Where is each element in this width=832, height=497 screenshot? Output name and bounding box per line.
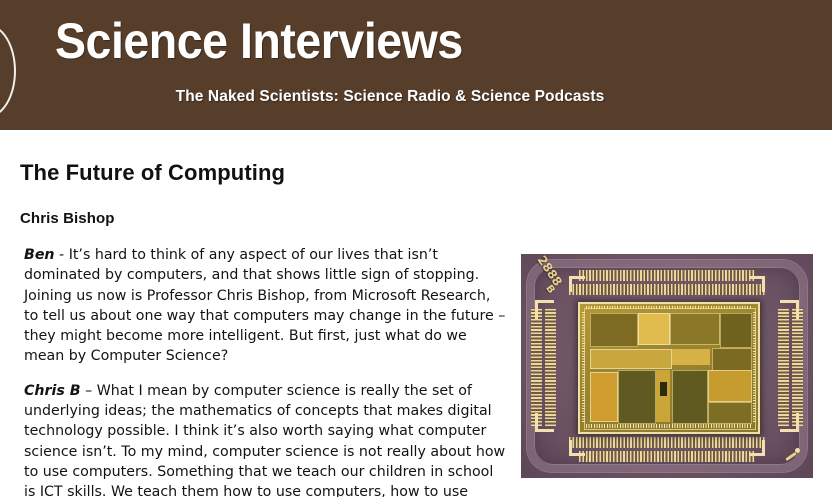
paragraph-text: It’s hard to think of any aspect of our … (24, 247, 505, 364)
bond-pad-row-left-outer (531, 308, 542, 426)
site-tagline: The Naked Scientists: Science Radio & Sc… (12, 88, 769, 106)
alignment-bracket-inner-bottom-left (569, 440, 585, 456)
bond-pad-row-bottom-inner (569, 437, 765, 448)
bond-pad-row-right-inner (778, 308, 789, 426)
page-root: Science Interviews The Naked Scientists:… (0, 0, 832, 497)
article-byline: Chris Bishop (20, 210, 115, 227)
alignment-bracket-top-right (780, 300, 799, 319)
alignment-bracket-inner-top-left (569, 276, 585, 292)
bond-pad-row-top-inner (569, 284, 765, 295)
alignment-bracket-bottom-left (535, 413, 554, 432)
alignment-bracket-inner-bottom-right (749, 440, 765, 456)
speaker-name: Chris B (24, 383, 81, 399)
bond-pad-row-left-inner (545, 308, 556, 426)
site-masthead: Science Interviews The Naked Scientists:… (0, 0, 832, 130)
alignment-bracket-inner-top-right (749, 276, 765, 292)
paragraph-text: What I mean by computer science is reall… (24, 383, 505, 497)
speaker-name: Ben (24, 247, 55, 263)
speaker-separator: – (81, 383, 97, 399)
bond-pad-row-bottom-outer (579, 451, 755, 462)
transcript-paragraph: Chris B – What I mean by computer scienc… (24, 381, 506, 497)
alignment-bracket-top-left (535, 300, 554, 319)
bond-pad-row-top-outer (579, 270, 755, 281)
alignment-bracket-bottom-right (780, 413, 799, 432)
bond-pad-row-right-outer (792, 308, 803, 426)
stray-bond-ball (795, 448, 800, 453)
speaker-separator: - (55, 247, 69, 263)
silicon-die (578, 302, 760, 434)
transcript-column: Ben - It’s hard to think of any aspect o… (24, 245, 506, 497)
transcript-paragraph: Ben - It’s hard to think of any aspect o… (24, 245, 506, 367)
site-title: Science Interviews (55, 12, 463, 70)
page-title: The Future of Computing (20, 160, 285, 186)
microchip-die-photo: 2888 B (521, 254, 813, 478)
